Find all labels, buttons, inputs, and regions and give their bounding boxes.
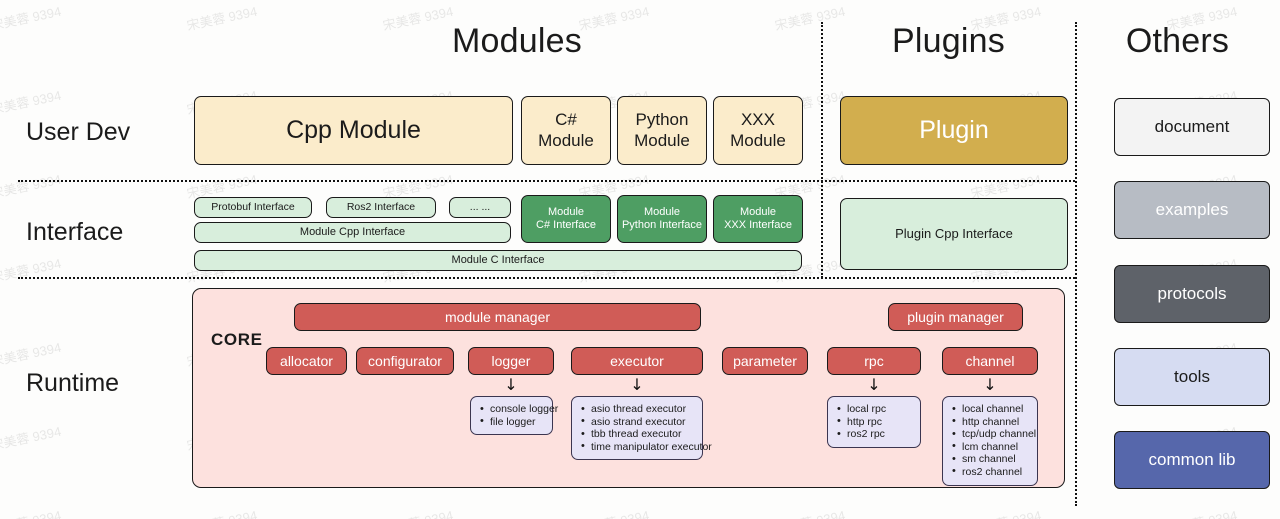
module-csharp-module[interactable]: C# Module	[521, 96, 611, 165]
column-title-modules: Modules	[352, 22, 682, 61]
arrow-down-icon-executor: ↓	[621, 377, 653, 393]
interface-ellipsis[interactable]: ... ...	[449, 197, 511, 218]
core-list-executor[interactable]: asio thread executorasio strand executor…	[571, 396, 703, 460]
interface-module-xxx[interactable]: Module XXX Interface	[713, 195, 803, 243]
core-component-parameter[interactable]: parameter	[722, 347, 808, 375]
core-list-channel[interactable]: local channelhttp channeltcp/udp channel…	[942, 396, 1038, 486]
module-xxx-module[interactable]: XXX Module	[713, 96, 803, 165]
list-item: console logger	[490, 403, 545, 416]
core-component-rpc[interactable]: rpc	[827, 347, 921, 375]
column-title-plugins: Plugins	[826, 22, 1071, 61]
interface-module-c[interactable]: Module C Interface	[194, 250, 802, 271]
watermark-text: 宋美蓉 9394	[0, 169, 63, 202]
row-label-user-dev: User Dev	[26, 118, 130, 147]
watermark-text: 宋美蓉 9394	[0, 1, 63, 34]
core-label: CORE	[211, 330, 263, 350]
core-component-logger[interactable]: logger	[468, 347, 554, 375]
core-list-logger-items: console loggerfile logger	[477, 403, 545, 428]
diagram-canvas: 宋美蓉 9394宋美蓉 9394宋美蓉 9394宋美蓉 9394宋美蓉 9394…	[0, 0, 1280, 519]
watermark-text: 宋美蓉 9394	[381, 505, 455, 519]
arrow-down-icon-rpc: ↓	[858, 377, 890, 393]
list-item: local rpc	[847, 403, 913, 416]
watermark-text: 宋美蓉 9394	[0, 421, 63, 454]
list-item: asio thread executor	[591, 403, 695, 416]
core-module-manager[interactable]: module manager	[294, 303, 701, 331]
others-item-examples[interactable]: examples	[1114, 181, 1270, 239]
list-item: file logger	[490, 416, 545, 429]
module-cpp-module[interactable]: Cpp Module	[194, 96, 513, 165]
list-item: tbb thread executor	[591, 428, 695, 441]
watermark-text: 宋美蓉 9394	[185, 1, 259, 34]
separator-interface-runtime	[18, 277, 1075, 279]
core-list-channel-items: local channelhttp channeltcp/udp channel…	[949, 403, 1030, 479]
row-label-runtime: Runtime	[26, 369, 119, 398]
others-item-protocols[interactable]: protocols	[1114, 265, 1270, 323]
column-title-others: Others	[1080, 22, 1275, 61]
interface-module-python[interactable]: Module Python Interface	[617, 195, 707, 243]
interface-plugin-cpp[interactable]: Plugin Cpp Interface	[840, 198, 1068, 270]
core-list-rpc-items: local rpchttp rpcros2 rpc	[834, 403, 913, 441]
core-list-rpc[interactable]: local rpchttp rpcros2 rpc	[827, 396, 921, 448]
watermark-text: 宋美蓉 9394	[0, 337, 63, 370]
core-plugin-manager[interactable]: plugin manager	[888, 303, 1023, 331]
list-item: time manipulator executor	[591, 441, 695, 454]
separator-userdev-interface	[18, 180, 1075, 182]
list-item: http rpc	[847, 416, 913, 429]
interface-module-csharp[interactable]: Module C# Interface	[521, 195, 611, 243]
others-item-common-lib[interactable]: common lib	[1114, 431, 1270, 489]
row-label-interface: Interface	[26, 218, 123, 247]
list-item: lcm channel	[962, 441, 1030, 454]
watermark-text: 宋美蓉 9394	[185, 505, 259, 519]
core-component-executor[interactable]: executor	[571, 347, 703, 375]
plugin-box[interactable]: Plugin	[840, 96, 1068, 165]
list-item: http channel	[962, 416, 1030, 429]
separator-modules-plugins	[821, 22, 823, 278]
core-component-allocator[interactable]: allocator	[266, 347, 347, 375]
interface-protobuf[interactable]: Protobuf Interface	[194, 197, 312, 218]
list-item: ros2 channel	[962, 466, 1030, 479]
list-item: asio strand executor	[591, 416, 695, 429]
separator-plugins-others	[1075, 22, 1077, 506]
core-component-channel[interactable]: channel	[942, 347, 1038, 375]
watermark-text: 宋美蓉 9394	[1165, 505, 1239, 519]
core-list-executor-items: asio thread executorasio strand executor…	[578, 403, 695, 453]
watermark-text: 宋美蓉 9394	[773, 505, 847, 519]
watermark-text: 宋美蓉 9394	[0, 253, 63, 286]
interface-ros2[interactable]: Ros2 Interface	[326, 197, 436, 218]
core-list-logger[interactable]: console loggerfile logger	[470, 396, 553, 435]
watermark-text: 宋美蓉 9394	[969, 505, 1043, 519]
core-component-configurator[interactable]: configurator	[356, 347, 454, 375]
others-item-document[interactable]: document	[1114, 98, 1270, 156]
arrow-down-icon-channel: ↓	[974, 377, 1006, 393]
others-item-tools[interactable]: tools	[1114, 348, 1270, 406]
watermark-text: 宋美蓉 9394	[577, 505, 651, 519]
interface-module-cpp[interactable]: Module Cpp Interface	[194, 222, 511, 243]
list-item: sm channel	[962, 453, 1030, 466]
watermark-text: 宋美蓉 9394	[0, 505, 63, 519]
arrow-down-icon-logger: ↓	[495, 377, 527, 393]
watermark-text: 宋美蓉 9394	[0, 85, 63, 118]
list-item: local channel	[962, 403, 1030, 416]
list-item: tcp/udp channel	[962, 428, 1030, 441]
module-python-module[interactable]: Python Module	[617, 96, 707, 165]
list-item: ros2 rpc	[847, 428, 913, 441]
